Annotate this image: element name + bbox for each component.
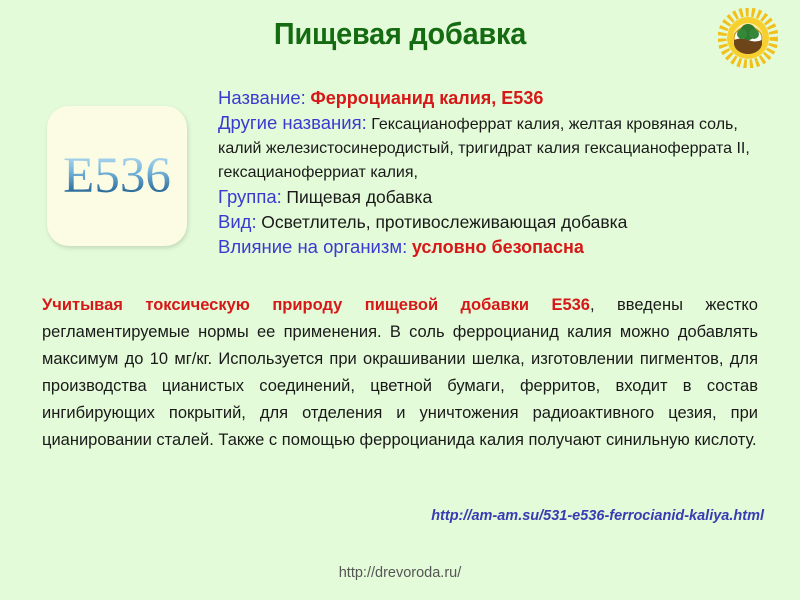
facts-list: Название: Ферроцианид калия, E536 Другие…: [218, 86, 780, 260]
source-url-link[interactable]: http://am-am.su/531-e536-ferrocianid-kal…: [0, 508, 764, 524]
additive-code-label: E536: [63, 151, 171, 202]
additive-code-badge: E536: [47, 106, 187, 246]
fact-label-group: Группа:: [218, 186, 282, 207]
fact-value-effect: условно безопасна: [412, 237, 584, 257]
footer-url-link[interactable]: http://drevoroda.ru/: [0, 565, 800, 581]
fact-label-other-names: Другие названия:: [218, 112, 367, 133]
fact-row-effect: Влияние на организм: условно безопасна: [218, 235, 780, 260]
description-paragraph: Учитывая токсическую природу пищевой доб…: [42, 292, 758, 454]
page-header: Пищевая добавка: [0, 0, 800, 78]
sun-tree-logo-icon: [718, 8, 778, 68]
fact-value-group: Пищевая добавка: [286, 187, 432, 207]
tree-crown-right: [749, 29, 759, 39]
fact-value-type: Осветлитель, противослеживающая добавка: [261, 212, 627, 232]
fact-row-group: Группа: Пищевая добавка: [218, 185, 780, 210]
sun-tree-logo-svg: [718, 8, 778, 68]
fact-label-effect: Влияние на организм:: [218, 236, 407, 257]
fact-label-type: Вид:: [218, 211, 257, 232]
description-lead: Учитывая токсическую природу пищевой доб…: [42, 296, 590, 314]
fact-row-other-names: Другие названия: Гексацианоферрат калия,…: [218, 111, 780, 185]
page-title: Пищевая добавка: [28, 16, 772, 52]
tree-crown-left: [737, 29, 747, 39]
fact-row-type: Вид: Осветлитель, противослеживающая доб…: [218, 210, 780, 235]
fact-label-name: Название:: [218, 87, 306, 108]
description-rest: , введены жестко регламентируемые нормы …: [42, 296, 758, 449]
info-area: E536 Название: Ферроцианид калия, E536 Д…: [0, 78, 800, 278]
fact-row-name: Название: Ферроцианид калия, E536: [218, 86, 780, 111]
fact-value-name: Ферроцианид калия, E536: [310, 88, 543, 108]
